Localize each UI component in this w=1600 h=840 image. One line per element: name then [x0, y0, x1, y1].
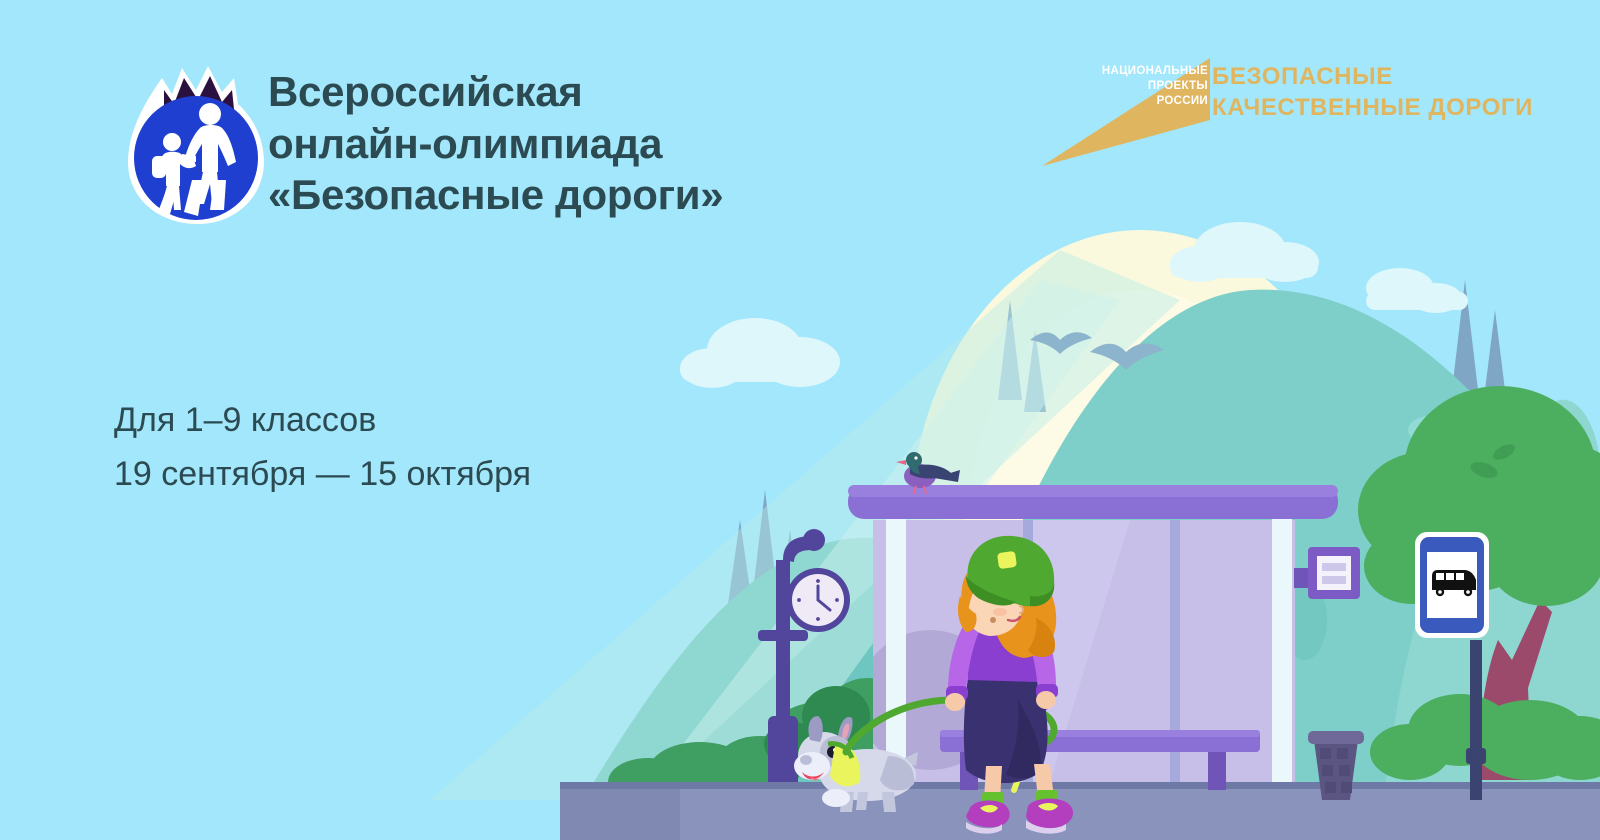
- olympiad-banner: Всероссийская онлайн-олимпиада «Безопасн…: [0, 0, 1600, 840]
- clock-post-collar: [758, 630, 808, 641]
- shelter-post-left: [886, 508, 906, 782]
- np-wedge-line-1: НАЦИОНАЛЬНЫЕ: [1082, 64, 1208, 79]
- clock-post-base: [768, 716, 798, 790]
- sign-pole: [1470, 640, 1482, 800]
- trash-can-rim: [1308, 731, 1364, 744]
- clock-finial: [803, 529, 825, 551]
- girl-earring: [990, 617, 996, 623]
- info-panel-mount: [1294, 568, 1310, 588]
- dog-paw-front: [822, 789, 850, 807]
- sign-pole-collar: [1466, 748, 1486, 764]
- sidewalk: [560, 782, 1600, 840]
- date-range: 19 сентября — 15 октября: [114, 447, 531, 501]
- event-details: Для 1–9 классов 19 сентября — 15 октября: [114, 393, 531, 502]
- info-panel-inner: [1317, 556, 1351, 590]
- np-title-line-2: КАЧЕСТВЕННЫЕ ДОРОГИ: [1212, 93, 1533, 124]
- national-projects-logo: НАЦИОНАЛЬНЫЕ ПРОЕКТЫ РОССИИ БЕЗОПАСНЫЕ К…: [1040, 58, 1540, 168]
- info-panel-bar-1: [1322, 563, 1346, 571]
- girl-hat-patch: [997, 551, 1017, 569]
- np-title-line-1: БЕЗОПАСНЫЕ: [1212, 62, 1533, 93]
- girl-hand-front: [945, 693, 965, 711]
- page-title: Всероссийская онлайн-олимпиада «Безопасн…: [268, 66, 908, 221]
- info-panel-bar-2: [1322, 576, 1346, 584]
- olympiad-logo: [118, 60, 266, 228]
- headline-line-3: «Безопасные дороги»: [268, 169, 908, 221]
- bus-shelter: [848, 485, 1338, 790]
- girl-hand-back: [1036, 691, 1056, 709]
- np-wedge-line-2: ПРОЕКТЫ: [1082, 79, 1208, 94]
- np-wedge-label: НАЦИОНАЛЬНЫЕ ПРОЕКТЫ РОССИИ: [1082, 64, 1208, 110]
- np-wedge-line-3: РОССИИ: [1082, 94, 1208, 109]
- sidewalk-edge: [560, 782, 1600, 789]
- dog-nose: [800, 755, 812, 765]
- grades-range: Для 1–9 классов: [114, 393, 531, 447]
- girl-cheek: [993, 608, 1007, 616]
- shelter-post-right: [1272, 508, 1292, 782]
- np-program-title: БЕЗОПАСНЫЕ КАЧЕСТВЕННЫЕ ДОРОГИ: [1212, 62, 1533, 123]
- sidewalk-step: [560, 789, 680, 840]
- dog-muzzle: [794, 752, 830, 780]
- headline-line-1: Всероссийская: [268, 66, 908, 118]
- pigeon-eye: [914, 456, 917, 459]
- headline-line-2: онлайн-олимпиада: [268, 118, 908, 170]
